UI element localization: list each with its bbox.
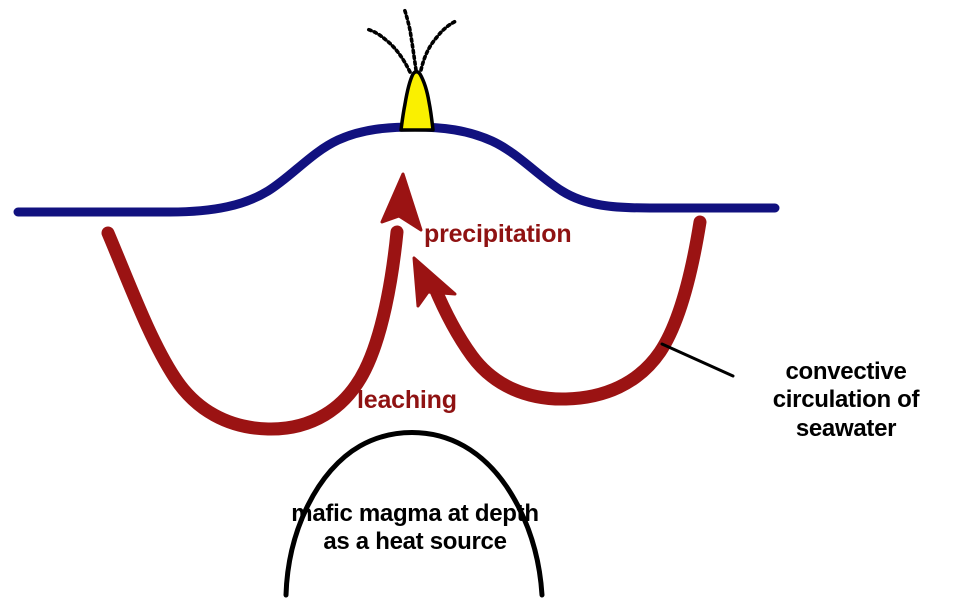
label-leaching: leaching [357,386,457,416]
plume-strand-left [366,29,410,72]
label-convective-circulation: convective circulation of seawater [735,358,957,443]
main-upflow-arrow [382,174,421,230]
hydrothermal-vent-diagram: precipitation leaching convective circul… [0,0,960,601]
label-magma-source: mafic magma at depth as a heat source [290,500,540,557]
label-precipitation: precipitation [424,220,571,250]
callout-leader-line [662,344,733,376]
hydrothermal-vent-chimney [401,72,433,130]
left-convection-cell [108,232,397,429]
black-smoker-plume [366,8,456,72]
plume-strand-right [421,21,456,70]
